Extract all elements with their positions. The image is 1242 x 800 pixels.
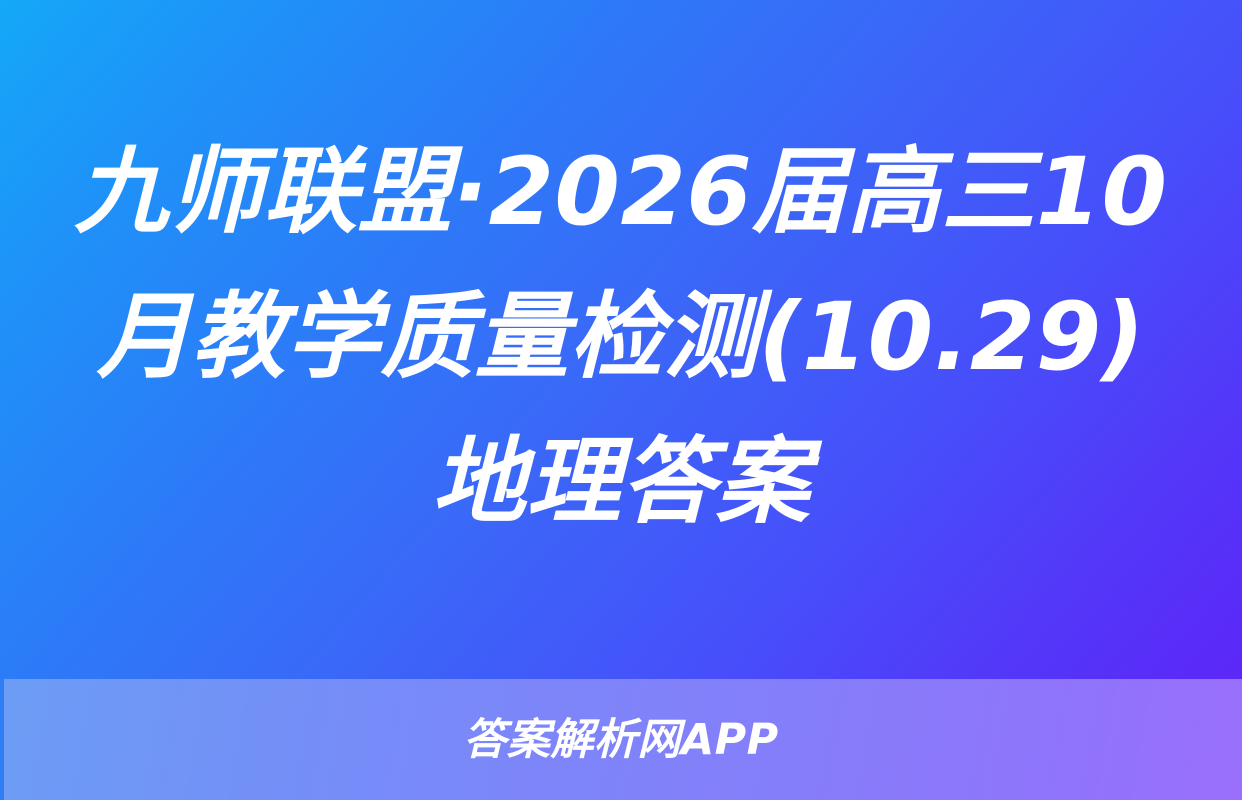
hero-title-line-2: 月教学质量检测(10.29): [66, 265, 1176, 410]
footer-band: 答案解析网APP: [0, 679, 1242, 800]
poster-canvas: 九师联盟·2026届高三10 月教学质量检测(10.29) 地理答案 答案解析网…: [0, 0, 1242, 800]
footer-edge-accent: [0, 679, 4, 800]
hero-title-line-3: 地理答案: [66, 410, 1176, 555]
hero-panel: 九师联盟·2026届高三10 月教学质量检测(10.29) 地理答案: [0, 0, 1242, 679]
hero-title-block: 九师联盟·2026届高三10 月教学质量检测(10.29) 地理答案: [66, 120, 1176, 559]
hero-title-line-1: 九师联盟·2026届高三10: [66, 120, 1176, 265]
footer-app-name: 答案解析网APP: [463, 714, 778, 766]
